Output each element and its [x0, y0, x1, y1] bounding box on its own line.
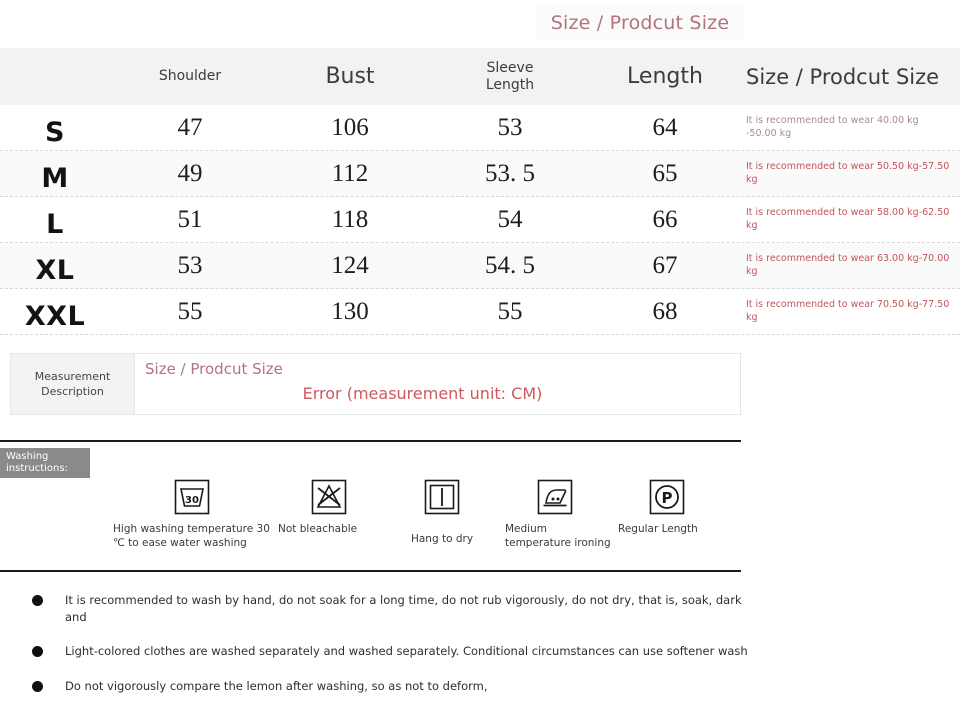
bullet-icon	[32, 646, 43, 657]
cell-size: S	[0, 105, 110, 150]
header-recommendation: Size / Prodcut Size	[740, 48, 960, 105]
care-caption-dryclean: Regular Length	[606, 522, 728, 536]
hang-to-dry-icon	[423, 478, 461, 516]
header-sleeve-line2: Length	[486, 77, 534, 93]
cell-shoulder: 53	[110, 243, 270, 288]
cell-bust: 130	[270, 289, 430, 334]
note-text: Light-colored clothes are washed separat…	[65, 643, 748, 660]
dry-clean-p-icon: P	[648, 478, 686, 516]
note-text: It is recommended to wash by hand, do no…	[65, 592, 760, 625]
measurement-label-line2: Description	[41, 385, 104, 398]
cell-length: 67	[590, 243, 740, 288]
cell-sleeve: 53. 5	[430, 151, 590, 196]
table-row: XXL 55 130 55 68 It is recommended to we…	[0, 289, 960, 335]
washing-instructions-badge: Washing instructions:	[0, 448, 90, 478]
table-row: S 47 106 53 64 It is recommended to wear…	[0, 105, 960, 151]
header-sleeve-line1: Sleeve	[487, 60, 534, 76]
cell-recommendation: It is recommended to wear 40.00 kg -50.0…	[740, 105, 960, 150]
list-item: It is recommended to wash by hand, do no…	[0, 592, 760, 625]
header-size	[0, 48, 110, 105]
care-symbols-row: 30 High washing temperature 30 ℃ to ease…	[90, 478, 740, 568]
care-item-dry: Hang to dry	[386, 478, 498, 546]
cell-bust: 106	[270, 105, 430, 150]
list-item: Light-colored clothes are washed separat…	[0, 643, 760, 660]
cell-bust: 112	[270, 151, 430, 196]
cell-size: XL	[0, 243, 110, 288]
cell-length: 65	[590, 151, 740, 196]
washing-badge-line2: instructions:	[6, 463, 84, 476]
cell-shoulder: 49	[110, 151, 270, 196]
header-length: Length	[590, 48, 740, 105]
header-sleeve-length: Sleeve Length	[430, 48, 590, 105]
care-item-wash: 30 High washing temperature 30 ℃ to ease…	[112, 478, 272, 550]
header-bust: Bust	[270, 48, 430, 105]
cell-recommendation: It is recommended to wear 70.50 kg-77.50…	[740, 289, 960, 334]
cell-sleeve: 53	[430, 105, 590, 150]
measurement-label-line1: Measurement	[35, 370, 111, 383]
cell-shoulder: 47	[110, 105, 270, 150]
care-notes-list: It is recommended to wash by hand, do no…	[0, 592, 760, 713]
svg-text:30: 30	[185, 495, 199, 506]
care-caption-dry: Hang to dry	[386, 532, 498, 546]
cell-sleeve: 54	[430, 197, 590, 242]
table-header-row: Shoulder Bust Sleeve Length Length Size …	[0, 48, 960, 105]
cell-size: M	[0, 151, 110, 196]
cell-bust: 124	[270, 243, 430, 288]
note-text: Do not vigorously compare the lemon afte…	[65, 678, 488, 695]
list-item: Do not vigorously compare the lemon afte…	[0, 678, 760, 695]
measurement-size-note: Size / Prodcut Size	[145, 360, 283, 378]
care-item-iron: Medium temperature ironing	[500, 478, 610, 550]
cell-sleeve: 55	[430, 289, 590, 334]
do-not-bleach-icon	[310, 478, 348, 516]
cell-recommendation: It is recommended to wear 50.50 kg-57.50…	[740, 151, 960, 196]
svg-text:P: P	[662, 489, 673, 507]
bullet-icon	[32, 681, 43, 692]
cell-length: 68	[590, 289, 740, 334]
divider-top	[0, 440, 741, 442]
divider-bottom	[0, 570, 741, 572]
measurement-description-label: Measurement Description	[11, 354, 135, 414]
top-size-label: Size / Prodcut Size	[536, 6, 744, 40]
care-caption-wash: High washing temperature 30 ℃ to ease wa…	[111, 522, 273, 550]
care-caption-iron: Medium temperature ironing	[495, 522, 615, 550]
cell-size: L	[0, 197, 110, 242]
washing-badge-line1: Washing	[6, 451, 84, 464]
bullet-icon	[32, 595, 43, 606]
cell-bust: 118	[270, 197, 430, 242]
size-table: Shoulder Bust Sleeve Length Length Size …	[0, 48, 960, 335]
cell-shoulder: 51	[110, 197, 270, 242]
care-item-bleach: Not bleachable	[274, 478, 384, 536]
iron-medium-icon	[536, 478, 574, 516]
care-item-dryclean: P Regular Length	[612, 478, 722, 536]
table-row: L 51 118 54 66 It is recommended to wear…	[0, 197, 960, 243]
measurement-description-body: Size / Prodcut Size Error (measurement u…	[135, 354, 740, 414]
header-shoulder: Shoulder	[110, 48, 270, 105]
cell-shoulder: 55	[110, 289, 270, 334]
cell-size: XXL	[0, 289, 110, 334]
cell-length: 64	[590, 105, 740, 150]
wash-basin-30-icon: 30	[173, 478, 211, 516]
cell-sleeve: 54. 5	[430, 243, 590, 288]
cell-recommendation: It is recommended to wear 58.00 kg-62.50…	[740, 197, 960, 242]
cell-length: 66	[590, 197, 740, 242]
measurement-description-box: Measurement Description Size / Prodcut S…	[10, 353, 741, 415]
measurement-error-note: Error (measurement unit: CM)	[135, 384, 740, 403]
table-row: M 49 112 53. 5 65 It is recommended to w…	[0, 151, 960, 197]
table-row: XL 53 124 54. 5 67 It is recommended to …	[0, 243, 960, 289]
care-caption-bleach: Not bleachable	[270, 522, 388, 536]
cell-recommendation: It is recommended to wear 63.00 kg-70.00…	[740, 243, 960, 288]
